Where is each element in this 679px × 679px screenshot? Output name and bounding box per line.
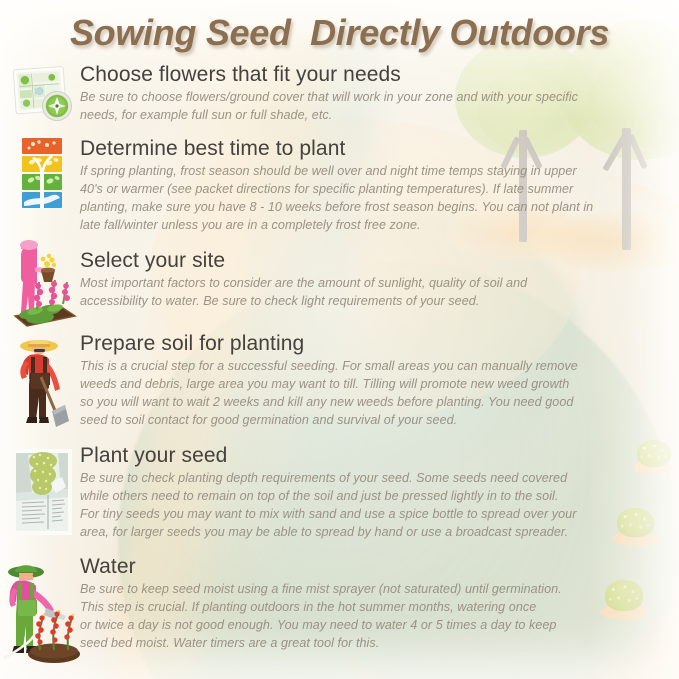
step-body: Select your site Most important factors … — [80, 250, 676, 310]
step-description: Be sure to check planting depth requirem… — [80, 469, 676, 542]
step-line: If spring planting, frost season should … — [80, 162, 676, 180]
step-body: Water Be sure to keep seed moist using a… — [80, 556, 676, 653]
step-line: Be sure to check planting depth requirem… — [80, 469, 676, 487]
step-line: weeds and debris, large area you may wan… — [80, 375, 676, 393]
step-line: seed bed moist. Water timers are a great… — [80, 634, 676, 652]
step-body: Determine best time to plant If spring p… — [80, 138, 676, 235]
step-heading: Prepare soil for planting — [80, 333, 676, 356]
step-line: or twice a day is not good enough. You m… — [80, 616, 676, 634]
step-line: so you will want to wait 2 weeks and kil… — [80, 393, 676, 411]
step-heading: Water — [80, 556, 676, 579]
step-body: Prepare soil for planting This is a cruc… — [80, 333, 676, 430]
step-line: area, for larger seeds you may be able t… — [80, 523, 676, 541]
step-heading: Plant your seed — [80, 445, 676, 468]
step-line: Most important factors to consider are t… — [80, 274, 676, 292]
seed-packet-pouring-icon — [6, 447, 78, 539]
gardener-with-shovel-icon — [6, 333, 78, 437]
step-heading: Select your site — [80, 250, 676, 273]
step-body: Choose flowers that fit your needs Be su… — [80, 64, 676, 124]
step-line: while others need to remain on top of th… — [80, 487, 676, 505]
step-line: This step is crucial. If planting outdoo… — [80, 598, 676, 616]
step-description: Be sure to keep seed moist using a fine … — [80, 580, 676, 653]
step-description: Most important factors to consider are t… — [80, 274, 676, 311]
page-title: Sowing Seed Directly Outdoors — [0, 12, 679, 54]
step-line: Be sure to choose flowers/ground cover t… — [80, 88, 676, 106]
step-line: needs, for example full sun or full shad… — [80, 106, 676, 124]
step-heading: Determine best time to plant — [80, 138, 676, 161]
step-line: late fall/winter unless you are in a com… — [80, 216, 676, 234]
garden-plan-compass-icon — [6, 64, 78, 126]
step-description: Be sure to choose flowers/ground cover t… — [80, 88, 676, 125]
step-body: Plant your seed Be sure to check plantin… — [80, 445, 676, 542]
four-seasons-icon — [6, 138, 78, 212]
step-line: This is a crucial step for a successful … — [80, 357, 676, 375]
step-line: 40's or warmer (see packet directions fo… — [80, 180, 676, 198]
step-line: Be sure to keep seed moist using a fine … — [80, 580, 676, 598]
gardener-watering-icon — [2, 558, 82, 666]
step-line: accessibility to water. Be sure to check… — [80, 292, 676, 310]
step-description: This is a crucial step for a successful … — [80, 357, 676, 430]
step-description: If spring planting, frost season should … — [80, 162, 676, 235]
flower-bed-planting-icon — [6, 238, 78, 330]
infographic-poster: Sowing Seed Directly Outdoors — [0, 0, 679, 679]
step-line: For tiny seeds you may want to mix with … — [80, 505, 676, 523]
step-line: planting, make sure you have 8 - 10 week… — [80, 198, 676, 216]
step-heading: Choose flowers that fit your needs — [80, 64, 676, 87]
step-line: seed to soil contact for good germinatio… — [80, 411, 676, 429]
